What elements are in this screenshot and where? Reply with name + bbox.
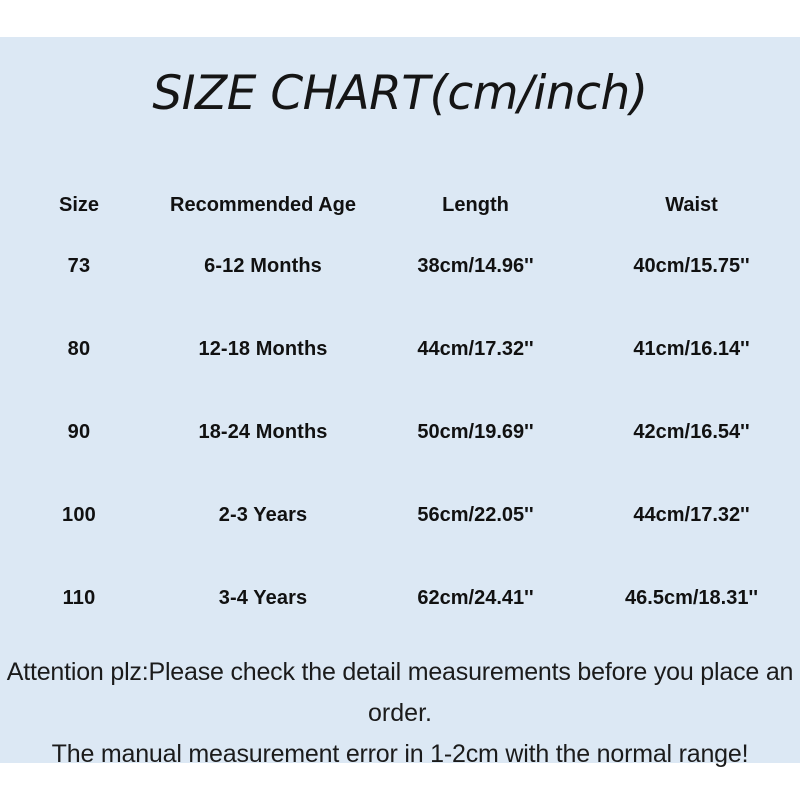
cell-waist: 44cm/17.32'' — [583, 474, 800, 557]
cell-age: 6-12 Months — [158, 225, 368, 308]
size-chart-image: SIZE CHART(cm/inch) Size Recommended Age… — [0, 0, 800, 800]
size-chart-table: Size Recommended Age Length Waist 73 6-1… — [0, 185, 800, 640]
cell-waist: 42cm/16.54'' — [583, 391, 800, 474]
cell-age: 18-24 Months — [158, 391, 368, 474]
table-row: 110 3-4 Years 62cm/24.41'' 46.5cm/18.31'… — [0, 557, 800, 640]
cell-length: 62cm/24.41'' — [368, 557, 583, 640]
cell-length: 56cm/22.05'' — [368, 474, 583, 557]
page-title: SIZE CHART(cm/inch) — [0, 66, 800, 121]
column-header-size: Size — [0, 185, 158, 225]
cell-age: 2-3 Years — [158, 474, 368, 557]
attention-notes: Attention plz:Please check the detail me… — [0, 652, 800, 775]
table-row: 90 18-24 Months 50cm/19.69'' 42cm/16.54'… — [0, 391, 800, 474]
cell-age: 12-18 Months — [158, 308, 368, 391]
note-line-2: order. — [0, 693, 800, 734]
cell-size: 90 — [0, 391, 158, 474]
cell-size: 110 — [0, 557, 158, 640]
column-header-age: Recommended Age — [158, 185, 368, 225]
cell-waist: 40cm/15.75'' — [583, 225, 800, 308]
cell-age: 3-4 Years — [158, 557, 368, 640]
note-line-1: Attention plz:Please check the detail me… — [0, 652, 800, 693]
cell-size: 73 — [0, 225, 158, 308]
cell-size: 100 — [0, 474, 158, 557]
cell-length: 38cm/14.96'' — [368, 225, 583, 308]
column-header-length: Length — [368, 185, 583, 225]
table-row: 80 12-18 Months 44cm/17.32'' 41cm/16.14'… — [0, 308, 800, 391]
cell-waist: 46.5cm/18.31'' — [583, 557, 800, 640]
cell-waist: 41cm/16.14'' — [583, 308, 800, 391]
note-line-3: The manual measurement error in 1-2cm wi… — [0, 734, 800, 775]
cell-size: 80 — [0, 308, 158, 391]
cell-length: 44cm/17.32'' — [368, 308, 583, 391]
table-row: 73 6-12 Months 38cm/14.96'' 40cm/15.75'' — [0, 225, 800, 308]
table-header-row: Size Recommended Age Length Waist — [0, 185, 800, 225]
table-row: 100 2-3 Years 56cm/22.05'' 44cm/17.32'' — [0, 474, 800, 557]
cell-length: 50cm/19.69'' — [368, 391, 583, 474]
column-header-waist: Waist — [583, 185, 800, 225]
